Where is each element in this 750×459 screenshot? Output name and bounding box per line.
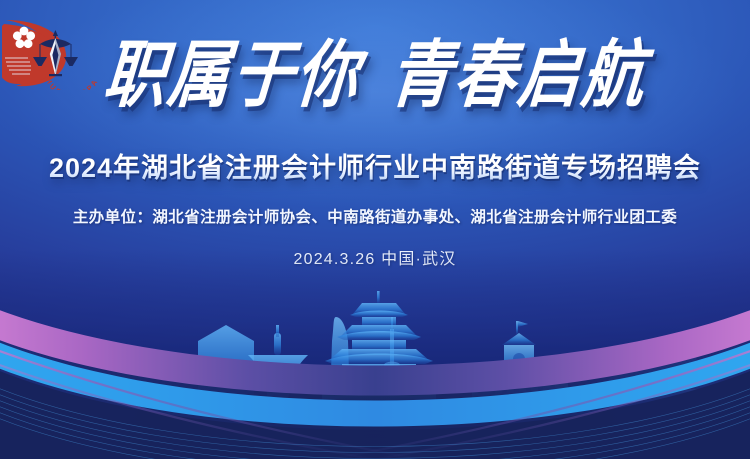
recruitment-poster: HUBEI ICPA 职属于你青春启航 2024年湖北省注册会计师行业中南路街道… xyxy=(0,0,750,459)
headline-left: 职属于你 xyxy=(100,31,364,117)
poster-dateline: 2024.3.26 中国·武汉 xyxy=(0,245,750,269)
poster-headline: 职属于你青春启航 xyxy=(0,38,750,111)
decorative-wave-ribbons xyxy=(0,284,750,459)
headline-right: 青春启航 xyxy=(386,31,650,117)
poster-subtitle: 2024年湖北省注册会计师行业中南路街道专场招聘会 xyxy=(0,146,750,185)
poster-organizer: 主办单位：湖北省注册会计师协会、中南路街道办事处、湖北省注册会计师行业团工委 xyxy=(0,205,750,227)
